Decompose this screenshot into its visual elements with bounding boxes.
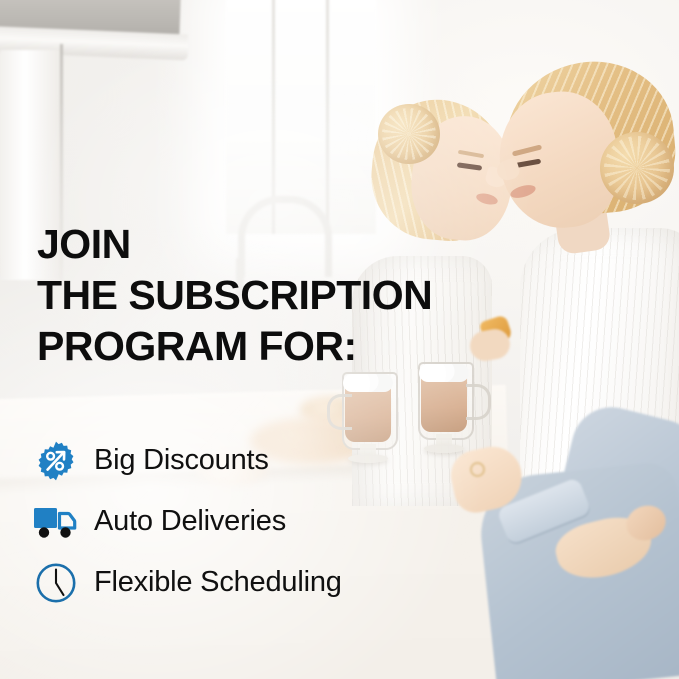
- headline-line-2: THE SUBSCRIPTION: [37, 270, 507, 321]
- daughter-hair-bun: [378, 104, 440, 164]
- feature-label-flexible-scheduling: Flexible Scheduling: [94, 566, 342, 599]
- feature-list: Big Discounts Auto Deliveries Flexib: [33, 430, 473, 613]
- mug-marshmallows: [343, 374, 393, 392]
- mug-handle: [327, 394, 352, 430]
- delivery-truck-icon: [33, 499, 79, 545]
- percent-badge-icon: [33, 438, 79, 484]
- feature-row-auto-deliveries: Auto Deliveries: [33, 491, 473, 552]
- feature-label-big-discounts: Big Discounts: [94, 444, 269, 477]
- mother-hair-bun: [600, 132, 674, 204]
- subscription-promo-banner: JOIN THE SUBSCRIPTION PROGRAM FOR: Big D…: [0, 0, 679, 679]
- headline: JOIN THE SUBSCRIPTION PROGRAM FOR:: [37, 219, 507, 372]
- headline-line-1: JOIN: [37, 219, 507, 270]
- headline-line-3: PROGRAM FOR:: [37, 321, 507, 372]
- clock-icon: [33, 560, 79, 606]
- feature-row-big-discounts: Big Discounts: [33, 430, 473, 491]
- feature-label-auto-deliveries: Auto Deliveries: [94, 505, 286, 538]
- window-mullion-right: [326, 0, 329, 234]
- feature-row-flexible-scheduling: Flexible Scheduling: [33, 552, 473, 613]
- mug-cocoa: [421, 376, 467, 432]
- mug-handle: [466, 384, 491, 420]
